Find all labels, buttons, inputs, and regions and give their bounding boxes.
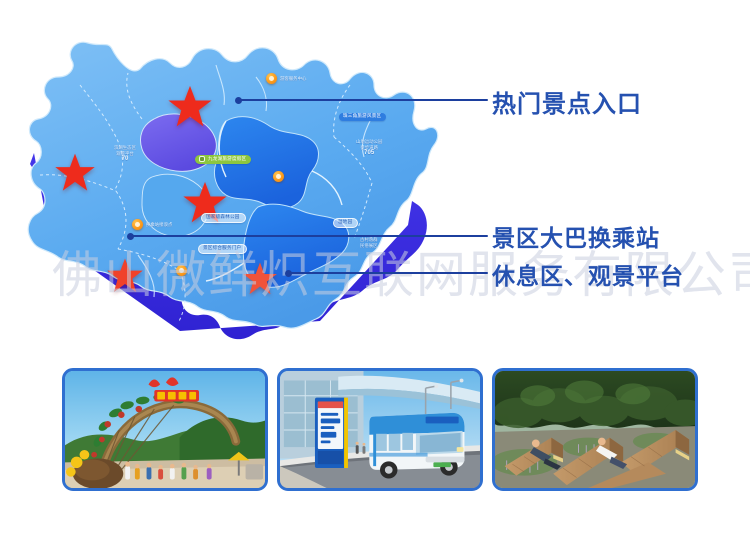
- map-poi-marker-south[interactable]: [176, 265, 187, 276]
- shuttle-bus-vehicle: [369, 413, 464, 479]
- map-tag-sub: 滨湖生态区观景平台: [114, 145, 136, 156]
- poster-canvas: 九龙湖旅游度假区 珠三角旅游风景区 国家级森林公园 景区综合服务门户 湿地园 滨…: [0, 0, 750, 537]
- region-map: 九龙湖旅游度假区 珠三角旅游风景区 国家级森林公园 景区综合服务门户 湿地园 滨…: [20, 25, 440, 345]
- map-tag-mountain-park: 山地运动公园徒步道路 705: [356, 139, 382, 158]
- map-pill-text: 九龙湖旅游度假区: [208, 157, 246, 162]
- photo-shuttle-bus[interactable]: [277, 368, 483, 491]
- map-star-marker-north[interactable]: [167, 84, 213, 130]
- photo-rest-deck-image: [495, 371, 695, 488]
- map-pill-label-scenic-area[interactable]: 珠三角旅游风景区: [339, 113, 386, 121]
- map-pill-label-resort[interactable]: 九龙湖旅游度假区: [195, 155, 251, 164]
- leader-line: [130, 235, 488, 237]
- callout-label-hot-attraction-entrance: 热门景点入口: [492, 84, 642, 119]
- map-poi-marker-visitor-center[interactable]: [266, 73, 277, 84]
- photo-scenic-entrance[interactable]: [62, 368, 268, 491]
- map-pill-label-wetland[interactable]: 湿地园: [333, 218, 358, 228]
- map-star-marker-southwest[interactable]: [106, 257, 144, 295]
- map-pill-text: 国家级森林公园: [206, 215, 240, 220]
- photo-strip: [0, 368, 750, 500]
- leaf-icon: [199, 156, 205, 162]
- map-tag-number: 705: [356, 150, 382, 158]
- leader-dot: [127, 233, 134, 240]
- callout-label-shuttle-bus-station: 景区大巴换乘站: [492, 219, 660, 253]
- map-poi-label-transfer: 换乘站接驳点: [146, 222, 172, 228]
- map-star-marker-south[interactable]: [242, 261, 278, 297]
- map-star-marker-west[interactable]: [54, 152, 96, 194]
- map-poi-marker-central[interactable]: [273, 171, 284, 182]
- map-tag-number: 70: [114, 156, 136, 164]
- map-pill-label-forest-park[interactable]: 国家级森林公园: [201, 213, 246, 223]
- map-pill-text: 珠三角旅游风景区: [343, 114, 381, 119]
- photo-shuttle-bus-image: [280, 371, 480, 488]
- leader-dot: [285, 270, 292, 277]
- map-tag-village: 古村落群民俗展区: [360, 237, 378, 248]
- map-tag-lakeside: 滨湖生态区观景平台 70: [114, 145, 136, 164]
- map-tag-sub: 古村落群民俗展区: [360, 237, 378, 248]
- map-poi-label-visitor-center: 游客服务中心: [280, 76, 306, 82]
- map-tag-sub: 山地运动公园徒步道路: [356, 139, 382, 150]
- leader-line: [238, 99, 488, 101]
- callout-label-rest-area-viewing-platform: 休息区、观景平台: [492, 257, 684, 291]
- leader-dot: [235, 97, 242, 104]
- map-poi-marker-transfer[interactable]: [132, 219, 143, 230]
- map-pill-text: 景区综合服务门户: [203, 246, 241, 251]
- leader-line: [288, 272, 488, 274]
- map-pill-label-service-gate[interactable]: 景区综合服务门户: [198, 244, 247, 254]
- photo-scenic-entrance-image: [65, 371, 265, 488]
- map-pill-text: 湿地园: [338, 220, 352, 225]
- photo-rest-deck[interactable]: [492, 368, 698, 491]
